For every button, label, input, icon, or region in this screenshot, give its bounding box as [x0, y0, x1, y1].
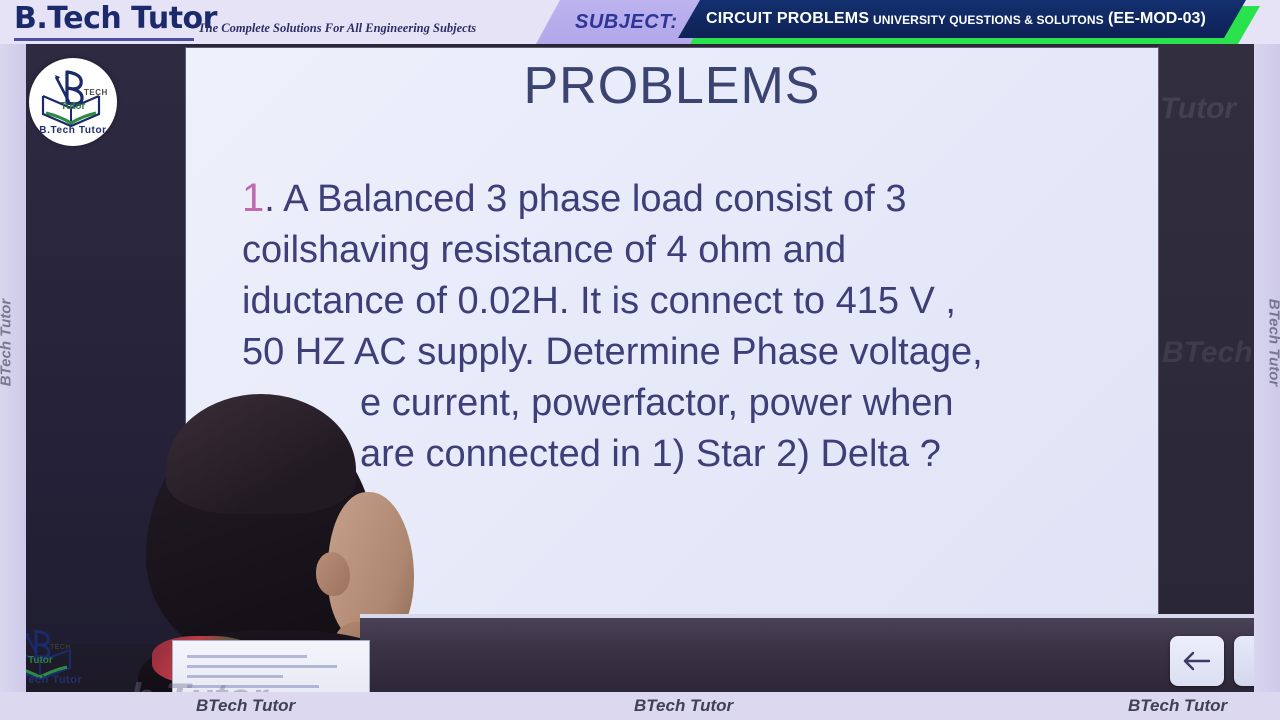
side-watermark-left: BTech Tutor	[0, 299, 14, 387]
slide-line-3: iductance of 0.02H. It is connect to 415…	[242, 276, 1132, 327]
bottom-watermark: BTech Tutor	[1128, 696, 1227, 716]
top-brand-bar: B.Tech Tutor The Complete Solutions For …	[0, 0, 1280, 44]
question-number: 1	[242, 176, 264, 220]
subject-label: SUBJECT:	[575, 11, 678, 34]
slide-line-2: coilshaving resistance of 4 ohm and	[242, 225, 1132, 276]
wall-watermark-top: Tutor	[1160, 92, 1236, 126]
banner-subtitle: UNIVERSITY QUESTIONS & SOLUTONS	[873, 13, 1104, 27]
bottom-watermark-bar: BTech Tutor BTech Tutor BTech Tutor	[0, 692, 1280, 720]
presenter-ear	[316, 552, 350, 596]
brand-name: B.Tech Tutor	[14, 1, 217, 36]
desk-front	[360, 618, 1260, 692]
logo-badge: TECH Tutor B.Tech Tutor	[29, 58, 117, 146]
screen-recording-frame: B.Tech Tutor The Complete Solutions For …	[0, 0, 1280, 720]
brand-underline	[14, 38, 194, 41]
banner-main-title: CIRCUIT PROBLEMS	[706, 10, 869, 28]
brand-tagline: The Complete Solutions For All Engineeri…	[198, 21, 476, 36]
overlay-watermark: h Tutor	[130, 676, 267, 692]
logo-tutor-text: Tutor	[29, 101, 117, 112]
slide-title: PROBLEMS	[186, 56, 1158, 116]
slide-line-1: 1. A Balanced 3 phase load consist of 3	[242, 173, 1132, 225]
right-wall-panel	[1158, 44, 1258, 624]
banner-module-code: (EE-MOD-03)	[1108, 10, 1206, 28]
logo-caption: B.Tech Tutor	[29, 125, 117, 136]
bottom-watermark: BTech Tutor	[634, 696, 733, 716]
side-watermark-right: BTech Tutor	[1266, 299, 1280, 387]
bottom-watermark: BTech Tutor	[196, 696, 295, 716]
classroom-video-area: Tutor BTech Tutor PROBLEMS 1. A Balanced…	[0, 44, 1280, 692]
left-arrow-icon	[1170, 636, 1224, 686]
back-button[interactable]	[1170, 636, 1224, 686]
laptop-text-line	[187, 665, 337, 668]
laptop-text-line	[187, 655, 307, 658]
presenter-hair-highlight	[166, 394, 356, 514]
slide-line-4: 50 HZ AC supply. Determine Phase voltage…	[242, 327, 1132, 378]
slide-line-1-text: . A Balanced 3 phase load consist of 3	[264, 178, 906, 220]
logo-tech-text: TECH	[29, 88, 172, 97]
